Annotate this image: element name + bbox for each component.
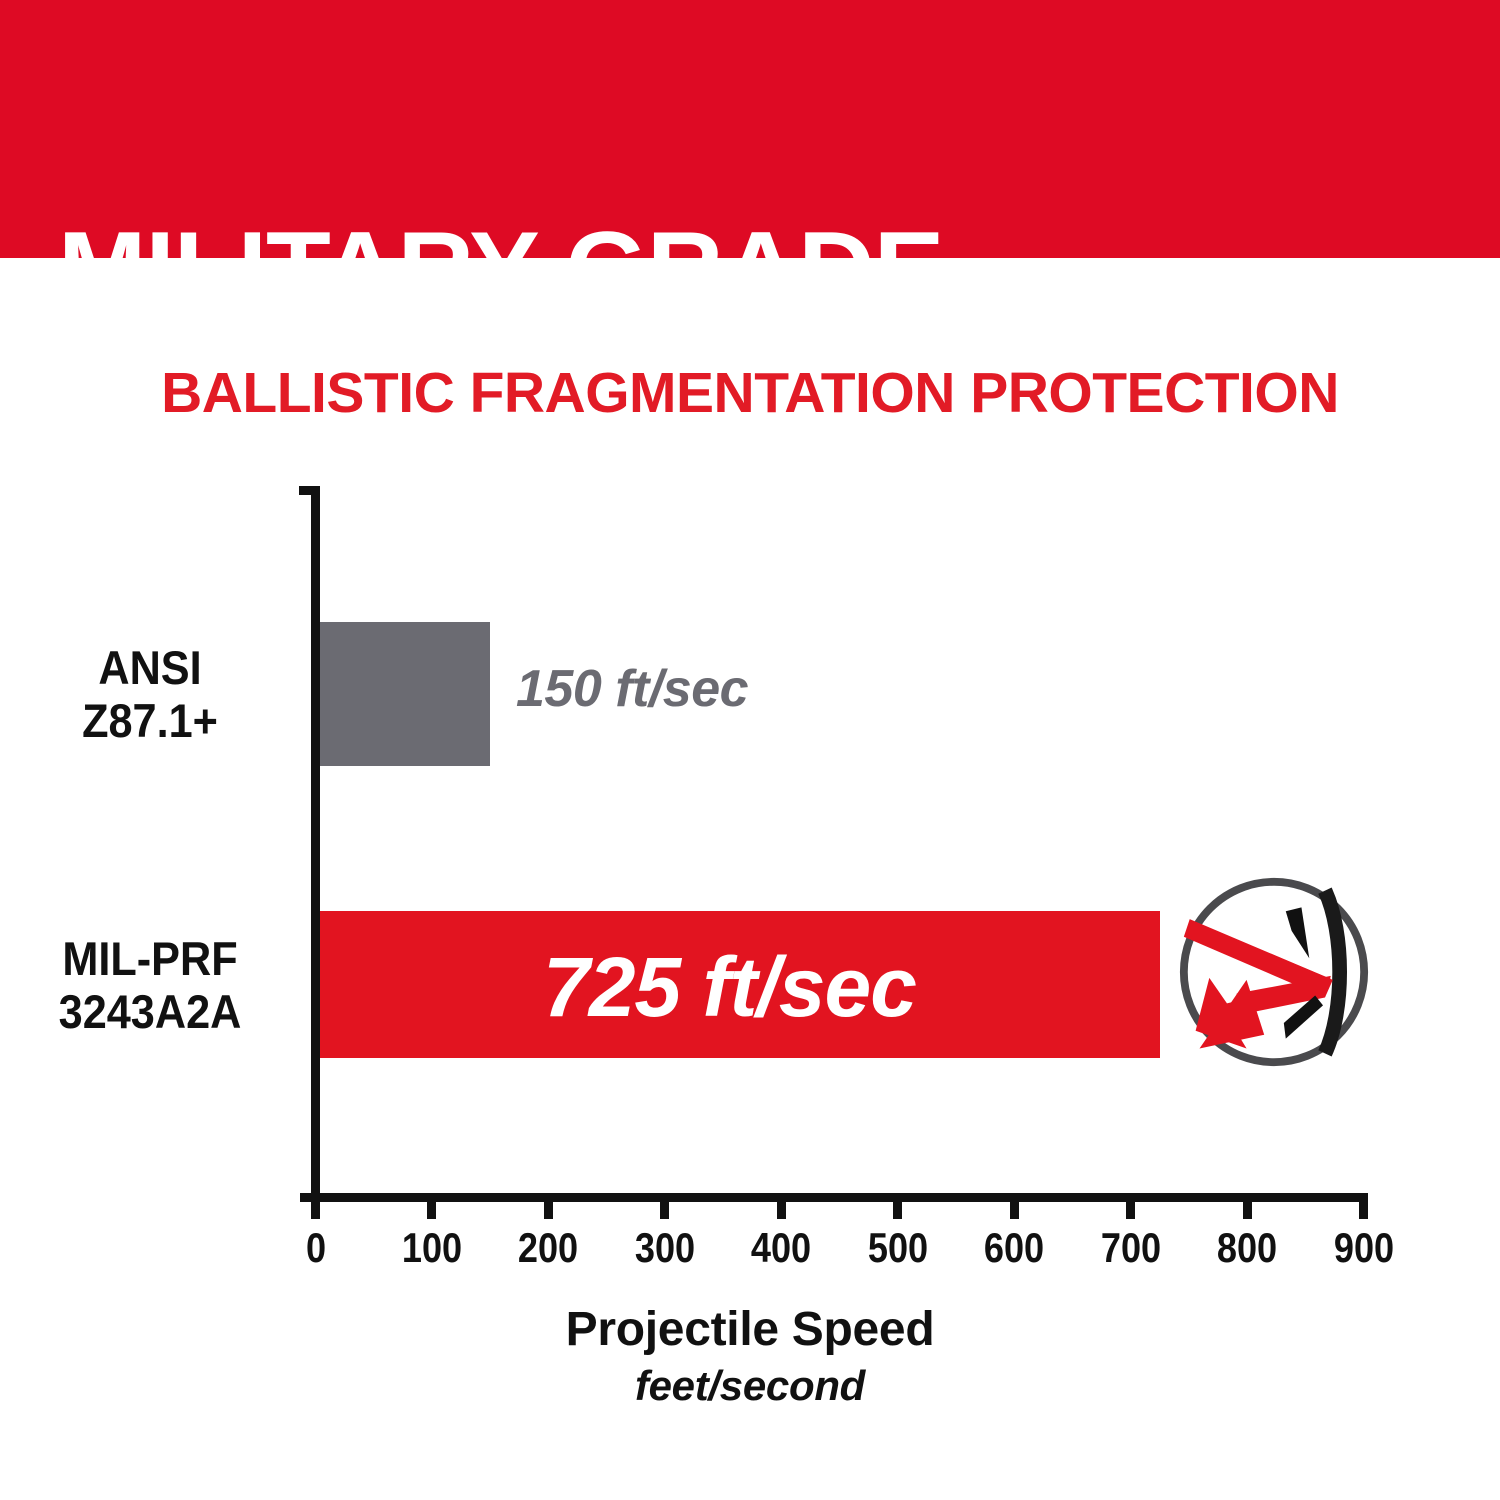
x-axis-tick-label-800: 800 xyxy=(1195,1224,1298,1272)
bar-value-label-mil-prf: 725 ft/sec xyxy=(543,939,916,1036)
x-axis-tick-label-900: 900 xyxy=(1312,1224,1415,1272)
category-label-ansi: ANSI Z87.1+ xyxy=(12,641,288,747)
category-label-mil-prf: MIL-PRF 3243A2A xyxy=(12,932,288,1038)
bar-value-label-ansi: 150 ft/sec xyxy=(516,659,748,719)
x-axis-tick-label-700: 700 xyxy=(1079,1224,1182,1272)
category-label-ansi-line-2: Z87.1+ xyxy=(12,694,288,747)
x-axis-tick-0 xyxy=(311,1202,320,1219)
x-axis-tick-500 xyxy=(893,1202,902,1219)
impact-deflection-icon xyxy=(1176,874,1372,1070)
x-axis-tick-200 xyxy=(544,1202,553,1219)
x-axis-line xyxy=(300,1193,1368,1202)
ballistic-fragmentation-bar-chart: 150 ft/sec 725 ft/sec ANSI Z87.1+ MIL-PR… xyxy=(0,0,1500,1500)
x-axis-tick-label-200: 200 xyxy=(497,1224,600,1272)
x-axis-tick-400 xyxy=(777,1202,786,1219)
bar-ansi-z87 xyxy=(320,622,491,766)
category-label-mil-prf-line-2: 3243A2A xyxy=(12,985,288,1038)
x-axis-tick-label-600: 600 xyxy=(963,1224,1066,1272)
x-axis-subtitle: feet/second xyxy=(0,1362,1500,1410)
category-label-mil-prf-line-1: MIL-PRF xyxy=(12,932,288,985)
x-axis-tick-label-400: 400 xyxy=(730,1224,833,1272)
x-axis-tick-label-300: 300 xyxy=(613,1224,716,1272)
x-axis-tick-600 xyxy=(1010,1202,1019,1219)
x-axis-title: Projectile Speed xyxy=(0,1302,1500,1357)
x-axis-tick-700 xyxy=(1126,1202,1135,1219)
category-label-ansi-line-1: ANSI xyxy=(12,641,288,694)
y-axis-line xyxy=(311,486,320,1202)
x-axis-tick-900 xyxy=(1359,1202,1368,1219)
x-axis-tick-label-100: 100 xyxy=(380,1224,483,1272)
x-axis-tick-label-0: 0 xyxy=(264,1224,367,1272)
icon-lens-arc xyxy=(1325,891,1340,1054)
x-axis-tick-800 xyxy=(1243,1202,1252,1219)
x-axis-tick-label-500: 500 xyxy=(846,1224,949,1272)
x-axis-tick-100 xyxy=(427,1202,436,1219)
x-axis-tick-300 xyxy=(660,1202,669,1219)
y-axis-top-cap xyxy=(299,486,320,495)
icon-fragment-upper xyxy=(1286,907,1310,958)
